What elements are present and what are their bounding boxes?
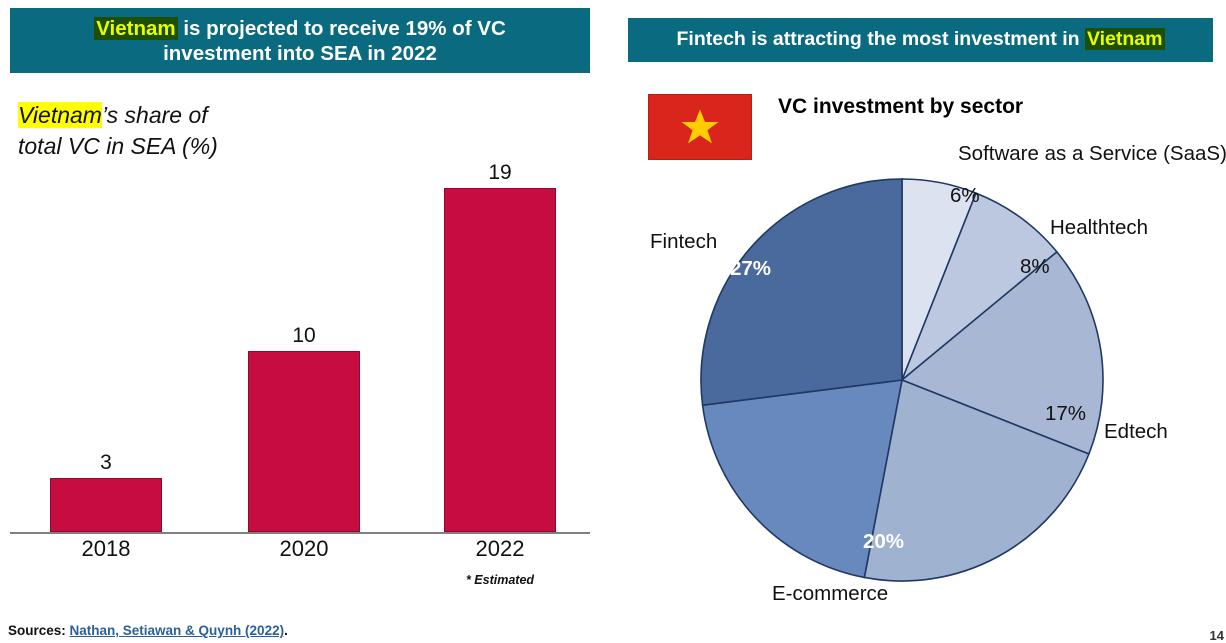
- x-axis-tick-label: 2018: [31, 536, 181, 562]
- right-panel: Fintech is attracting the most investmen…: [620, 0, 1226, 643]
- right-banner-prefix: Fintech is attracting the most investmen…: [677, 28, 1085, 50]
- pie-percentage-label: 6%: [950, 184, 980, 207]
- sources-suffix: .: [284, 623, 288, 638]
- left-banner-line-2: investment into SEA in 2022: [94, 41, 506, 66]
- pie-category-label: Fintech: [650, 230, 717, 253]
- bar-rect[interactable]: [444, 188, 556, 532]
- left-banner-line-1: Vietnam is projected to receive 19% of V…: [94, 16, 506, 41]
- sources-citation-link[interactable]: Nathan, Setiawan & Quynh (2022): [70, 623, 285, 638]
- pie-percentage-label: 17%: [1045, 402, 1086, 425]
- pie-percentage-label: 20%: [863, 530, 904, 553]
- left-banner-line-1-rest: is projected to receive 19% of VC: [178, 17, 506, 40]
- bar-value-label: 3: [50, 452, 162, 473]
- pie-chart: 6%8%17%20%27%Software as a Service (SaaS…: [620, 130, 1226, 630]
- pie-percentage-label: 8%: [1020, 255, 1050, 278]
- bar-value-label: 19: [444, 162, 556, 183]
- left-banner-highlight: Vietnam: [94, 17, 177, 40]
- bar-group: 3: [50, 452, 162, 532]
- right-banner-highlight: Vietnam: [1085, 28, 1165, 50]
- bar-chart-x-axis: [10, 532, 590, 534]
- pie-chart-svg: 6%8%17%20%27%Software as a Service (SaaS…: [620, 130, 1226, 630]
- bar-group: 19: [444, 162, 556, 532]
- left-banner-title: Vietnam is projected to receive 19% of V…: [10, 8, 590, 73]
- pie-slice[interactable]: [701, 179, 902, 405]
- bar-rect[interactable]: [50, 478, 162, 532]
- pie-category-label: E-commerce: [772, 582, 888, 605]
- estimated-footnote: * Estimated: [420, 573, 580, 587]
- right-banner-title: Fintech is attracting the most investmen…: [628, 18, 1213, 62]
- page-number: 14: [1210, 628, 1224, 643]
- bar-chart: 31019: [10, 120, 590, 532]
- bar-group: 10: [248, 325, 360, 532]
- pie-percentage-label: 27%: [730, 257, 771, 280]
- x-axis-tick-label: 2020: [229, 536, 379, 562]
- left-panel: Vietnam is projected to receive 19% of V…: [0, 0, 613, 643]
- sources-prefix: Sources:: [8, 623, 70, 638]
- bar-value-label: 10: [248, 325, 360, 346]
- bar-rect[interactable]: [248, 351, 360, 532]
- x-axis-tick-label: 2022: [425, 536, 575, 562]
- pie-category-label: Software as a Service (SaaS): [958, 142, 1226, 165]
- pie-category-label: Healthtech: [1050, 216, 1148, 239]
- sources-line: Sources: Nathan, Setiawan & Quynh (2022)…: [8, 623, 288, 638]
- pie-category-label: Edtech: [1104, 420, 1168, 443]
- pie-chart-title: VC investment by sector: [778, 95, 1023, 119]
